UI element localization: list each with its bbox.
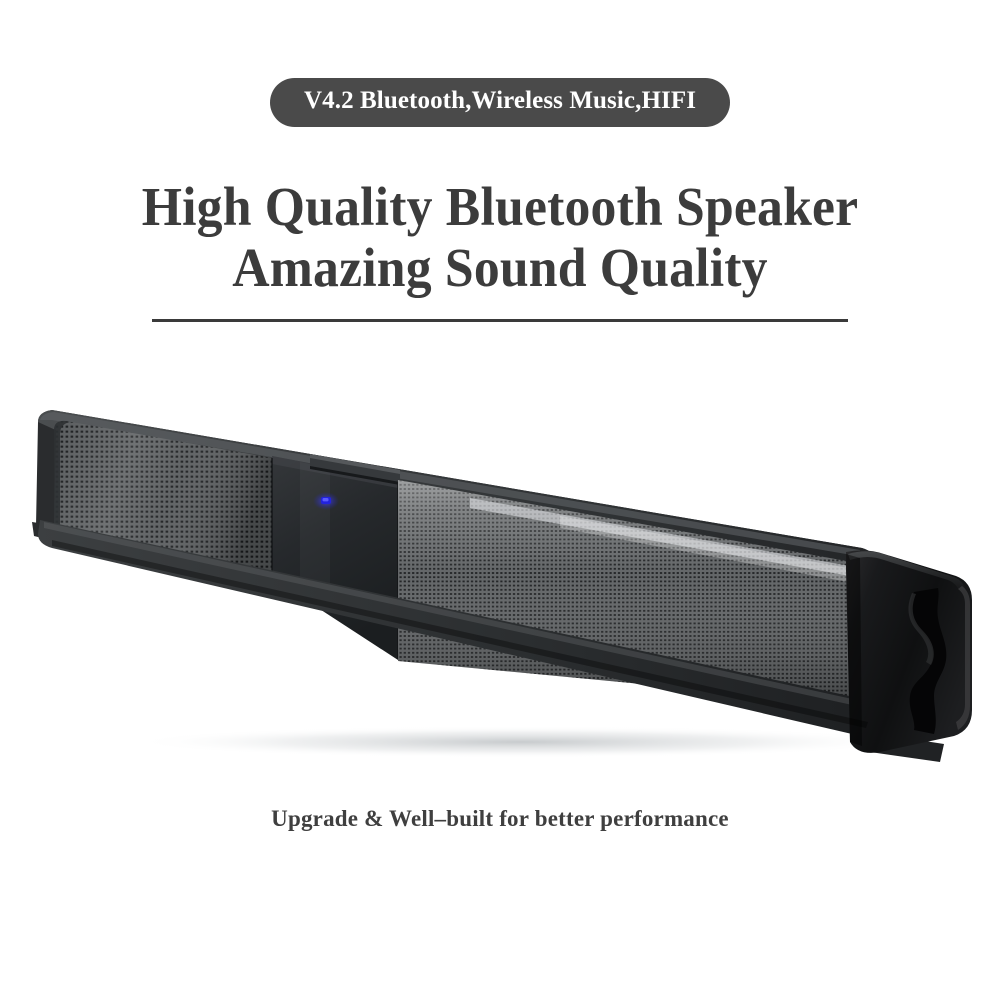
headline-line-2: Amazing Sound Quality: [30, 237, 970, 298]
headline-line-1: High Quality Bluetooth Speaker: [30, 176, 970, 237]
divider: [152, 319, 848, 322]
feature-badge: V4.2 Bluetooth,Wireless Music,HIFI: [270, 78, 730, 127]
badge-row: V4.2 Bluetooth,Wireless Music,HIFI: [0, 78, 1000, 127]
product-image: [0, 370, 1000, 780]
product-marketing-page: V4.2 Bluetooth,Wireless Music,HIFI High …: [0, 0, 1000, 1000]
center-control-panel: [272, 456, 398, 660]
footer-caption: Upgrade & Well–built for better performa…: [0, 806, 1000, 832]
page-title: High Quality Bluetooth Speaker Amazing S…: [0, 176, 1000, 298]
product-shadow: [130, 726, 910, 758]
power-indicator-led: [313, 492, 339, 510]
